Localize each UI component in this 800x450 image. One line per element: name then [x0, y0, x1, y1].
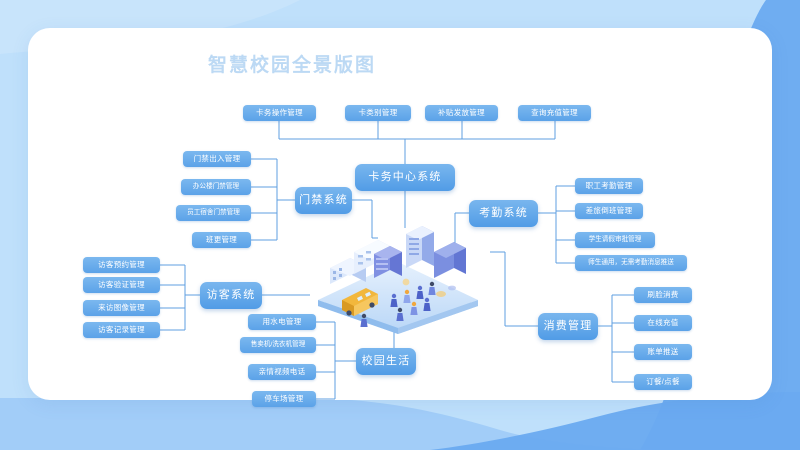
node-query-recharge[interactable]: 查询充值管理 [518, 105, 591, 121]
node-visitor-appointment[interactable]: 访客预约管理 [83, 257, 160, 273]
node-label: 差旅倒班管理 [586, 207, 633, 215]
hub-attendance[interactable]: 考勤系统 [469, 200, 538, 227]
hub-card-center[interactable]: 卡务中心系统 [355, 164, 455, 191]
node-visitor-image[interactable]: 来访图像管理 [83, 300, 160, 316]
node-family-video-call[interactable]: 亲情视频电话 [248, 364, 316, 380]
node-label: 访客记录管理 [98, 326, 145, 334]
hub-campus-life-label: 校园生活 [362, 355, 411, 367]
node-visitor-record[interactable]: 访客记录管理 [83, 322, 160, 338]
node-card-operation[interactable]: 卡务操作管理 [243, 105, 316, 121]
node-label: 班更管理 [206, 236, 237, 244]
node-meal-order[interactable]: 订餐/点餐 [634, 374, 692, 390]
node-access-inout[interactable]: 门禁出入管理 [183, 151, 251, 167]
hub-attendance-label: 考勤系统 [479, 207, 528, 219]
node-card-type[interactable]: 卡类别管理 [345, 105, 411, 121]
hub-consumption[interactable]: 消费管理 [538, 313, 598, 340]
node-label: 访客验证管理 [98, 281, 145, 289]
hub-access[interactable]: 门禁系统 [295, 187, 352, 214]
node-vending-laundry[interactable]: 售卖机/洗衣机管理 [240, 337, 316, 353]
node-label: 学生请假审批管理 [589, 236, 642, 243]
building-right-tower [406, 226, 434, 268]
node-parking[interactable]: 停车场管理 [252, 391, 316, 407]
node-label: 卡务操作管理 [256, 109, 303, 117]
node-label: 卡类别管理 [359, 109, 398, 117]
hub-visitor[interactable]: 访客系统 [200, 282, 262, 309]
hub-access-label: 门禁系统 [299, 194, 348, 206]
node-label: 查询充值管理 [531, 109, 578, 117]
node-label: 门禁出入管理 [194, 155, 241, 163]
node-label: 补贴发放管理 [438, 109, 485, 117]
node-access-shift[interactable]: 班更管理 [192, 232, 251, 248]
node-bill-push[interactable]: 账单推送 [634, 344, 692, 360]
node-label: 刷脸消费 [647, 291, 678, 299]
node-label: 在线充值 [647, 319, 678, 327]
node-attendance-push[interactable]: 师生通用，无需考勤消息推送 [575, 255, 687, 271]
node-utilities[interactable]: 用水电管理 [248, 314, 316, 330]
node-face-payment[interactable]: 刷脸消费 [634, 287, 692, 303]
node-travel-shift[interactable]: 差旅倒班管理 [575, 203, 643, 219]
node-online-recharge[interactable]: 在线充值 [634, 315, 692, 331]
isometric-campus-illustration [308, 222, 488, 340]
hub-card-center-label: 卡务中心系统 [368, 171, 441, 183]
node-student-leave-approval[interactable]: 学生请假审批管理 [575, 232, 655, 248]
hub-campus-life[interactable]: 校园生活 [356, 348, 416, 375]
node-label: 订餐/点餐 [646, 378, 680, 386]
node-label: 师生通用，无需考勤消息推送 [588, 259, 674, 266]
node-label: 用水电管理 [263, 318, 302, 326]
node-subsidy-issue[interactable]: 补贴发放管理 [425, 105, 498, 121]
node-visitor-verify[interactable]: 访客验证管理 [83, 277, 160, 293]
node-label: 职工考勤管理 [586, 182, 633, 190]
node-access-dorm[interactable]: 员工宿舍门禁管理 [176, 205, 251, 221]
node-label: 售卖机/洗衣机管理 [251, 341, 306, 348]
node-access-office[interactable]: 办公楼门禁管理 [181, 179, 251, 195]
node-label: 来访图像管理 [98, 304, 145, 312]
hub-consumption-label: 消费管理 [544, 320, 593, 332]
hub-visitor-label: 访客系统 [207, 289, 256, 301]
node-label: 账单推送 [647, 348, 678, 356]
node-staff-attendance[interactable]: 职工考勤管理 [575, 178, 643, 194]
node-label: 员工宿舍门禁管理 [187, 209, 240, 216]
node-label: 停车场管理 [265, 395, 304, 403]
node-label: 亲情视频电话 [259, 368, 306, 376]
node-label: 访客预约管理 [98, 261, 145, 269]
node-label: 办公楼门禁管理 [193, 183, 239, 190]
building-far-right [434, 242, 466, 278]
